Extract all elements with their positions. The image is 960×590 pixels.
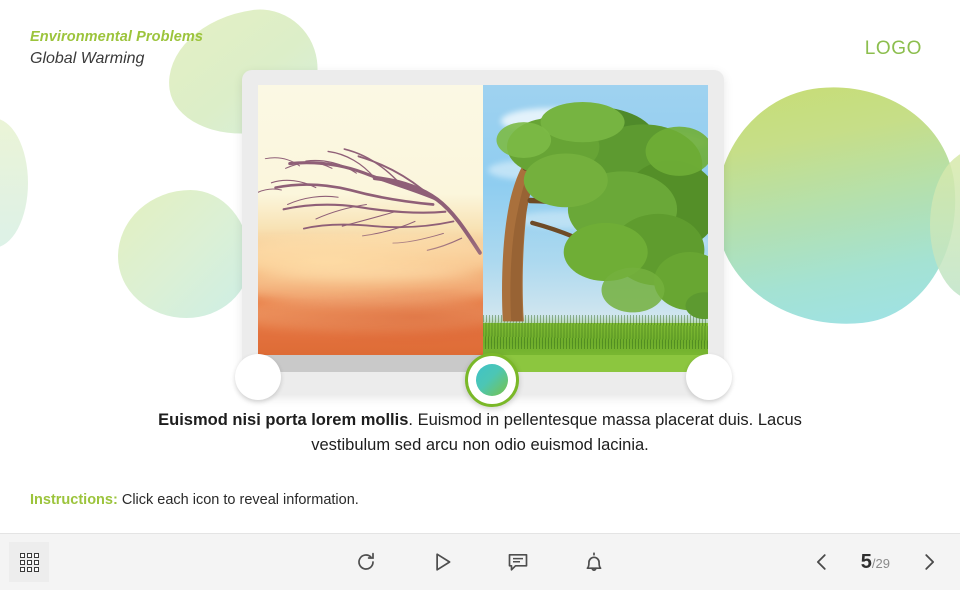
split-tree-photo (258, 85, 708, 372)
image-frame-wrapper (242, 70, 724, 395)
instructions-text: Click each icon to reveal information. (122, 492, 359, 508)
page-indicator: 5 /29 (861, 551, 890, 574)
replay-icon[interactable] (349, 545, 383, 579)
photo-half-alive (483, 85, 708, 372)
instructions-label: Instructions: (30, 492, 118, 508)
chevron-left-icon[interactable] (807, 547, 837, 577)
page-current: 5 (861, 551, 872, 574)
hotspot-marker-left[interactable] (235, 354, 281, 400)
comment-icon[interactable] (501, 545, 535, 579)
notification-bell-icon[interactable] (577, 545, 611, 579)
decorative-blob-right-edge (930, 150, 960, 300)
body-text-lead: Euismod nisi porta lorem mollis (158, 411, 408, 429)
hotspot-marker-center-active[interactable] (465, 353, 519, 407)
course-title: Environmental Problems (30, 29, 203, 45)
chevron-right-icon[interactable] (914, 547, 944, 577)
hotspot-marker-right[interactable] (686, 354, 732, 400)
slide-header: Environmental Problems Global Warming LO… (0, 0, 960, 80)
decorative-blob-left (118, 190, 250, 318)
lesson-title: Global Warming (30, 50, 144, 68)
living-tree (483, 102, 708, 326)
pagination: 5 /29 (807, 534, 944, 590)
photo-half-dead (258, 85, 483, 372)
slide-stage: Environmental Problems Global Warming LO… (0, 0, 960, 590)
hotspot-core-icon (476, 364, 508, 396)
logo: LOGO (865, 38, 922, 60)
player-toolbar: 5 /29 (0, 533, 960, 590)
instructions: Instructions: Click each icon to reveal … (30, 492, 359, 508)
decorative-blob-left-edge (0, 118, 28, 248)
play-icon[interactable] (425, 545, 459, 579)
page-total: /29 (872, 556, 890, 571)
decorative-blob-right (704, 75, 960, 337)
image-frame (242, 70, 724, 395)
body-text: Euismod nisi porta lorem mollis. Euismod… (130, 408, 830, 458)
